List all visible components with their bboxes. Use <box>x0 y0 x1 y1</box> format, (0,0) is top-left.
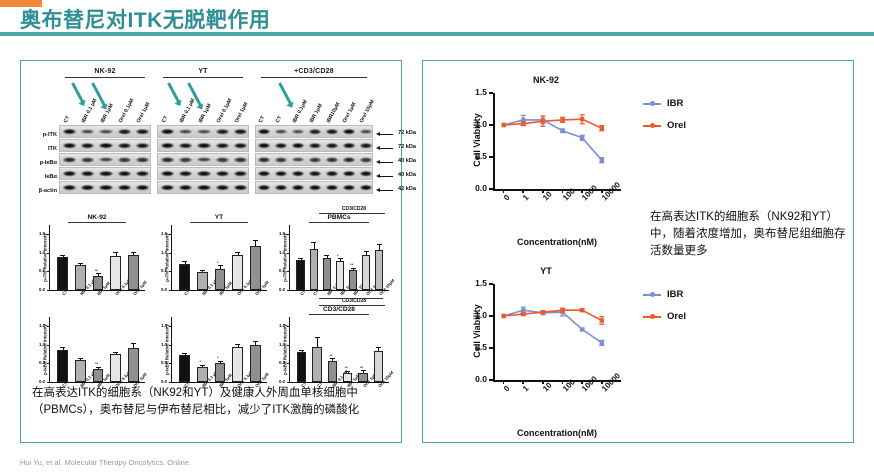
line-chart-1: YT0.00.51.01.5Cell Viability011010010001… <box>431 266 641 441</box>
bar-chart-errorbar-cap <box>235 344 240 345</box>
blot-band <box>197 143 210 149</box>
bar-chart-bar <box>128 348 139 382</box>
bar-chart-errorbar <box>220 266 221 269</box>
blot-band <box>234 157 247 162</box>
bar-chart-title-spacer <box>171 306 267 315</box>
bar-chart-y-tick <box>47 253 50 254</box>
bar-chart-errorbar-cap <box>60 347 65 348</box>
bar-chart-3: p-IκBα Relative Intensity0.00.51.01.5CTI… <box>49 306 145 383</box>
blot-band <box>326 171 338 177</box>
line-series-IBR <box>504 120 602 160</box>
data-point <box>600 341 604 345</box>
blot-group-title: YT <box>157 67 249 76</box>
blot-row-label: p-IκBα <box>29 160 57 166</box>
bar-chart-y-tick <box>47 290 50 291</box>
legend-label-IBR: IBR <box>667 98 683 109</box>
bar-chart-bar <box>336 261 344 290</box>
bar-chart-errorbar-cap <box>96 367 101 368</box>
blot-band <box>343 185 355 191</box>
blot-band <box>197 185 210 191</box>
bar-chart-y-tick-label: 1.0 <box>39 250 45 255</box>
blot-band <box>234 185 247 191</box>
bar-chart-errorbar-cap <box>182 353 187 354</box>
blot-lane-label: CT <box>258 115 267 124</box>
bar-chart-y-tick <box>287 234 290 235</box>
bar-chart-errorbar <box>340 259 341 261</box>
bar-chart-bar <box>297 352 307 382</box>
bar-chart-5: CD3/CD28p-IκBα Relative Intensity0.00.51… <box>289 306 389 383</box>
bar-chart-y-tick-label: 0.5 <box>161 268 167 273</box>
data-point <box>560 308 564 312</box>
bar-chart-errorbar <box>133 344 134 348</box>
data-point <box>521 122 525 126</box>
bar-chart-bar <box>57 257 68 290</box>
bar-chart-errorbar-cap <box>298 258 303 259</box>
data-point <box>501 123 505 127</box>
bar-chart-y-tick <box>47 271 50 272</box>
blot-band <box>343 157 355 162</box>
kda-arrow-icon <box>379 134 393 135</box>
bar-chart-errorbar-cap <box>338 258 343 259</box>
blot-row-2 <box>59 153 151 166</box>
blot-band <box>63 157 76 162</box>
bar-chart-significance: * <box>217 355 219 360</box>
blot-group-1: YTCTIBR 0.1 μMIBR 1μMOrel 0.1μMOrel 1μM <box>157 67 249 195</box>
bar-chart-title: CD3/CD28 <box>289 306 389 313</box>
bar-chart-y-tick <box>287 253 290 254</box>
blot-lane-label: Orel 10μM <box>359 99 376 124</box>
blot-row-label: p-ITK <box>29 132 57 138</box>
blot-band <box>81 157 94 162</box>
bar-chart-errorbar <box>379 245 380 250</box>
blot-band <box>326 129 338 135</box>
blot-row-3 <box>59 167 151 180</box>
bar-chart-errorbar <box>255 342 256 344</box>
bar-chart-y-tick <box>169 382 172 383</box>
bar-chart-y-tick <box>47 382 50 383</box>
blot-band <box>99 157 112 162</box>
bar-chart-y-axis <box>289 317 290 383</box>
bar-chart-errorbar-cap <box>364 251 369 252</box>
pbmc-group-rule <box>319 298 383 299</box>
blot-band <box>216 143 229 149</box>
bar-chart-errorbar-cap <box>113 352 118 353</box>
blot-row-0 <box>255 125 373 138</box>
blot-lane-label: IBR10μM <box>325 102 341 124</box>
data-point <box>560 129 564 133</box>
blot-band <box>309 129 321 135</box>
bar-chart-errorbar <box>220 362 221 363</box>
bar-chart-errorbar-cap <box>253 240 258 241</box>
blot-row-0 <box>59 125 151 138</box>
bar-chart-errorbar <box>302 351 303 352</box>
bar-chart-bar <box>362 255 370 290</box>
bar-chart-y-axis <box>289 225 290 291</box>
bar-chart-errorbar <box>238 345 239 347</box>
blot-row-4 <box>255 181 373 194</box>
blot-row-4 <box>59 181 151 194</box>
bar-chart-y-tick-label: 0.5 <box>279 360 285 365</box>
blot-band <box>63 143 76 149</box>
bar-chart-errorbar <box>317 338 318 346</box>
bar-chart-y-tick <box>287 326 290 327</box>
bar-chart-bar <box>57 350 68 382</box>
bar-chart-errorbar <box>238 253 239 256</box>
data-point <box>600 158 604 162</box>
bar-chart-y-tick <box>287 290 290 291</box>
legend-label-Orel: Orel <box>667 311 686 322</box>
blot-band <box>161 129 174 135</box>
bar-chart-errorbar <box>314 243 315 249</box>
bar-chart-errorbar-cap <box>96 273 101 274</box>
blot-band <box>118 157 131 162</box>
blot-rows <box>59 125 151 194</box>
bar-chart-0: NK-92p-ITK Relative Intensity0.00.51.01.… <box>49 214 145 291</box>
legend-dot-IBR <box>650 101 655 106</box>
bar-chart-title-rule <box>68 222 126 223</box>
blot-band <box>360 171 372 177</box>
bar-chart-errorbar <box>255 241 256 245</box>
blot-band <box>197 157 210 162</box>
data-point <box>560 118 564 122</box>
blot-band <box>216 171 229 177</box>
bar-chart-errorbar <box>202 366 203 367</box>
blot-rows <box>157 125 249 194</box>
blot-row-label: β-actin <box>29 188 57 194</box>
bar-chart-plot: p-IκBα Relative Intensity0.00.51.01.5CTC… <box>289 317 389 383</box>
blot-band <box>343 129 355 135</box>
data-point <box>580 117 584 121</box>
bar-chart-bar <box>232 255 243 290</box>
bar-chart-y-tick <box>47 363 50 364</box>
blot-band <box>309 143 321 149</box>
bar-chart-significance: ** <box>95 268 98 273</box>
bar-chart-bar <box>250 246 261 290</box>
bar-chart-plot: p-IκBα Relative Intensity0.00.51.01.5CT*… <box>171 317 267 383</box>
bar-chart-title: YT <box>171 214 267 221</box>
bar-chart-errorbar-cap <box>376 347 381 348</box>
blot-band <box>343 143 355 149</box>
bar-chart-title-spacer <box>49 306 145 315</box>
blot-band <box>309 185 321 191</box>
blot-row-1 <box>59 139 151 152</box>
bar-chart-y-tick <box>287 345 290 346</box>
bar-chart-group-rule <box>319 305 385 306</box>
bar-chart-y-tick <box>47 345 50 346</box>
line-chart-series-layer <box>431 266 641 441</box>
blot-band <box>216 129 229 135</box>
bar-chart-errorbar <box>63 256 64 257</box>
bar-chart-errorbar-cap <box>182 261 187 262</box>
bar-chart-y-tick <box>169 271 172 272</box>
blot-band <box>234 171 247 177</box>
blot-band <box>360 129 372 134</box>
bar-chart-significance: * <box>199 359 201 364</box>
kda-label: 40 kDa <box>398 158 416 164</box>
blot-band <box>63 129 76 135</box>
blot-row-2 <box>157 153 249 166</box>
blot-band <box>118 143 131 149</box>
blot-lane-label: CT <box>275 115 284 124</box>
bar-chart-bar <box>296 260 304 290</box>
bar-chart-y-tick-label: 1.5 <box>39 231 45 236</box>
slide-title-bar: 奥布替尼对ITK无脱靶作用 <box>0 0 874 42</box>
blot-lane-label: Orel 0.1μM <box>216 98 234 124</box>
blot-band <box>179 143 192 149</box>
blot-band <box>99 185 112 191</box>
bar-chart-errorbar-cap <box>361 370 366 371</box>
bar-chart-errorbar-cap <box>113 252 118 253</box>
data-point <box>580 308 584 312</box>
bar-chart-y-tick-label: 1.0 <box>161 250 167 255</box>
bar-chart-y-tick-label: 0.5 <box>279 268 285 273</box>
bar-chart-errorbar <box>378 348 379 351</box>
blot-band <box>258 143 270 149</box>
kda-arrow-icon <box>379 162 393 163</box>
blot-group-2: +CD3/CD28CTCTIBR 0.1μMIBR 1μMIBR10μMOrel… <box>255 67 373 195</box>
data-point <box>600 318 604 322</box>
blot-band <box>197 171 210 177</box>
bar-chart-significance: * <box>337 253 339 258</box>
blot-row-0 <box>157 125 249 138</box>
title-underline <box>0 32 874 36</box>
bar-chart-bar <box>179 355 190 382</box>
bar-chart-errorbar <box>363 371 364 372</box>
blot-lane-labels: CTCTIBR 0.1μMIBR 1μMIBR10μMOrel 1μMOrel … <box>255 78 373 124</box>
source-citation: Hui Yu, et al. Molecular Therapy Oncolyt… <box>20 458 191 467</box>
bar-chart-y-tick-label: 0.0 <box>279 287 285 292</box>
line-chart-series-layer <box>431 75 641 260</box>
blot-band <box>63 171 76 177</box>
blot-lane-label: CT <box>63 115 72 124</box>
bar-chart-errorbar-cap <box>60 255 65 256</box>
bar-chart-y-tick <box>287 382 290 383</box>
bar-chart-errorbar <box>98 274 99 276</box>
blot-band <box>99 129 112 134</box>
blot-band <box>136 157 149 162</box>
blot-band <box>179 171 192 177</box>
right-panel-caption: 在高表达ITK的细胞系（NK92和YT）中，随着浓度增加，奥布替尼组细胞存活数量… <box>650 209 850 260</box>
bar-chart-bar <box>128 255 139 290</box>
kda-label: 72 kDa <box>398 130 416 136</box>
bar-chart-errorbar <box>348 372 349 373</box>
bar-chart-errorbar <box>185 262 186 263</box>
blot-band <box>99 171 112 177</box>
blot-band <box>161 171 174 177</box>
bar-chart-4: p-IκBα Relative Intensity0.00.51.01.5CT*… <box>171 306 267 383</box>
blot-row-label: ITK <box>29 146 57 152</box>
bar-chart-2: PBMCsp-ITK Relative Intensity0.00.51.01.… <box>289 214 389 291</box>
blot-row-4 <box>157 181 249 194</box>
bar-chart-significance: ** <box>350 262 353 267</box>
bar-chart-y-tick <box>169 363 172 364</box>
blot-band <box>179 157 192 162</box>
blot-band <box>136 143 149 149</box>
bar-chart-significance: ** <box>329 353 332 358</box>
blot-band <box>136 171 149 177</box>
bar-chart-y-tick-label: 1.0 <box>39 342 45 347</box>
bar-chart-y-tick <box>47 326 50 327</box>
bar-chart-y-tick <box>169 345 172 346</box>
bar-chart-errorbar-cap <box>330 358 335 359</box>
bar-chart-y-tick <box>287 363 290 364</box>
blot-band <box>136 129 149 135</box>
blot-band <box>360 143 372 149</box>
bar-chart-y-tick <box>287 271 290 272</box>
bar-chart-title-rule <box>309 314 369 315</box>
bar-chart-plot: p-ITK Relative Intensity0.00.51.01.5CTCT… <box>289 225 389 291</box>
blot-lane-label: Orel 1μM <box>234 102 250 124</box>
blot-band <box>258 129 270 135</box>
blot-row-1 <box>255 139 373 152</box>
bar-chart-bar <box>374 351 384 382</box>
legend-dot-IBR <box>650 292 655 297</box>
blot-band <box>258 185 270 191</box>
bar-chart-errorbar-cap <box>351 268 356 269</box>
bar-chart-errorbar-cap <box>253 341 258 342</box>
blot-band <box>275 129 287 134</box>
blot-lane-label: Orel 1μM <box>136 102 152 124</box>
bar-chart-significance: ** <box>360 365 363 370</box>
blot-band <box>309 171 321 177</box>
bar-chart-y-tick-label: 0.5 <box>39 268 45 273</box>
kda-arrow-icon <box>379 148 393 149</box>
bar-chart-errorbar-cap <box>235 252 240 253</box>
bar-chart-title-rule <box>190 222 248 223</box>
bar-chart-errorbar <box>116 353 117 355</box>
bar-chart-errorbar-cap <box>324 255 329 256</box>
bar-chart-plot: p-ITK Relative Intensity0.00.51.01.5CTIB… <box>171 225 267 291</box>
bar-chart-title-rule <box>309 222 369 223</box>
blot-row-1 <box>157 139 249 152</box>
bar-chart-y-tick-label: 0.0 <box>39 287 45 292</box>
bar-chart-significance: ** <box>345 365 348 370</box>
bar-chart-errorbar <box>332 359 333 361</box>
blot-band <box>81 129 94 134</box>
bar-chart-errorbar <box>80 359 81 360</box>
bar-chart-errorbar <box>301 259 302 260</box>
blot-band <box>179 185 192 191</box>
blot-band <box>292 185 304 191</box>
western-blot-figure: p-ITKITKp-IκBαIκBαβ-actinNK-92CTIBR 0.1 … <box>29 67 393 202</box>
data-point <box>600 126 604 130</box>
bar-chart-errorbar-cap <box>131 343 136 344</box>
bar-chart-y-tick-label: 1.5 <box>39 323 45 328</box>
bar-chart-errorbar-cap <box>311 242 316 243</box>
left-panel-caption: 在高表达ITK的细胞系（NK92和YT）及健康人外周血单核细胞中（PBMCs），… <box>32 385 372 419</box>
bar-chart-y-tick-label: 0.0 <box>161 287 167 292</box>
data-point <box>541 310 545 314</box>
blot-rows <box>255 125 373 194</box>
bar-chart-y-tick <box>169 234 172 235</box>
legend-dot-Orel <box>650 314 655 319</box>
bar-chart-errorbar <box>353 269 354 270</box>
kda-label: 42 kDa <box>398 186 416 192</box>
legend-label-IBR: IBR <box>667 289 683 300</box>
blot-band <box>275 171 287 177</box>
data-point <box>541 119 545 123</box>
blot-band <box>63 185 76 191</box>
bar-chart-y-tick-label: 1.5 <box>161 323 167 328</box>
bar-chart-1: YTp-ITK Relative Intensity0.00.51.01.5CT… <box>171 214 267 291</box>
bar-chart-errorbar <box>98 368 99 369</box>
blot-band <box>81 185 94 191</box>
blot-band <box>161 143 174 149</box>
blot-band <box>118 171 131 177</box>
bar-chart-errorbar-cap <box>78 263 83 264</box>
bar-chart-y-tick-label: 1.0 <box>161 342 167 347</box>
bar-chart-y-tick <box>169 253 172 254</box>
bar-chart-title: PBMCs <box>289 214 389 221</box>
bar-chart-bar <box>232 347 243 382</box>
bar-chart-y-tick-label: 1.5 <box>279 231 285 236</box>
blot-band <box>326 185 338 191</box>
blot-band <box>197 129 210 134</box>
kda-arrow-icon <box>379 190 393 191</box>
bar-chart-errorbar-cap <box>345 371 350 372</box>
blot-group-title: +CD3/CD28 <box>255 67 373 76</box>
blot-row-3 <box>255 167 373 180</box>
kda-label: 72 kDa <box>398 144 416 150</box>
blot-band <box>216 185 229 191</box>
bar-chart-errorbar <box>63 348 64 349</box>
data-point <box>521 312 525 316</box>
blot-lane-label: Orel 0.1μM <box>118 98 136 124</box>
bar-chart-errorbar-cap <box>200 270 205 271</box>
blot-band <box>275 143 287 149</box>
bar-chart-bar <box>323 258 331 290</box>
bar-chart-significance: * <box>217 260 219 265</box>
blot-lane-label: IBR 1μM <box>308 103 323 124</box>
bar-chart-errorbar-cap <box>78 358 83 359</box>
line-chart-0: NK-920.00.51.01.5Cell Viability011010010… <box>431 75 641 260</box>
bar-chart-errorbar-cap <box>377 244 382 245</box>
blot-band <box>292 157 304 162</box>
bar-chart-errorbar-cap <box>299 350 304 351</box>
blot-band <box>258 157 270 162</box>
bar-chart-bar <box>375 250 383 290</box>
blot-group-0: NK-92CTIBR 0.1 μMIBR 1μMOrel 0.1μMOrel 1… <box>59 67 151 195</box>
bar-chart-errorbar-cap <box>131 252 136 253</box>
bar-chart-y-axis <box>171 225 172 291</box>
blot-band <box>161 157 174 162</box>
bar-chart-plot: p-IκBα Relative Intensity0.00.51.01.5CTI… <box>49 317 145 383</box>
kda-arrow-icon <box>379 176 393 177</box>
bar-chart-plot: p-ITK Relative Intensity0.00.51.01.5CTIB… <box>49 225 145 291</box>
bar-chart-y-tick-label: 0.0 <box>279 379 285 384</box>
blot-band <box>99 143 112 149</box>
blot-band <box>309 157 321 162</box>
blot-band <box>234 129 247 135</box>
bar-chart-y-tick <box>47 234 50 235</box>
blot-band <box>360 157 372 162</box>
bar-chart-group-rule <box>319 213 385 214</box>
blot-lane-label: Orel 1μM <box>342 102 358 124</box>
bar-chart-errorbar-cap <box>315 337 320 338</box>
data-point <box>501 314 505 318</box>
bar-chart-errorbar <box>80 264 81 265</box>
page-title: 奥布替尼对ITK无脱靶作用 <box>20 4 270 34</box>
bar-chart-y-tick <box>169 290 172 291</box>
blot-band <box>81 171 94 177</box>
blot-band <box>292 143 304 149</box>
blot-row-2 <box>255 153 373 166</box>
bar-chart-y-tick <box>169 326 172 327</box>
bar-chart-y-tick-label: 0.5 <box>161 360 167 365</box>
blot-row-label: IκBα <box>29 174 57 180</box>
data-point <box>580 136 584 140</box>
bar-chart-bar <box>312 347 322 382</box>
